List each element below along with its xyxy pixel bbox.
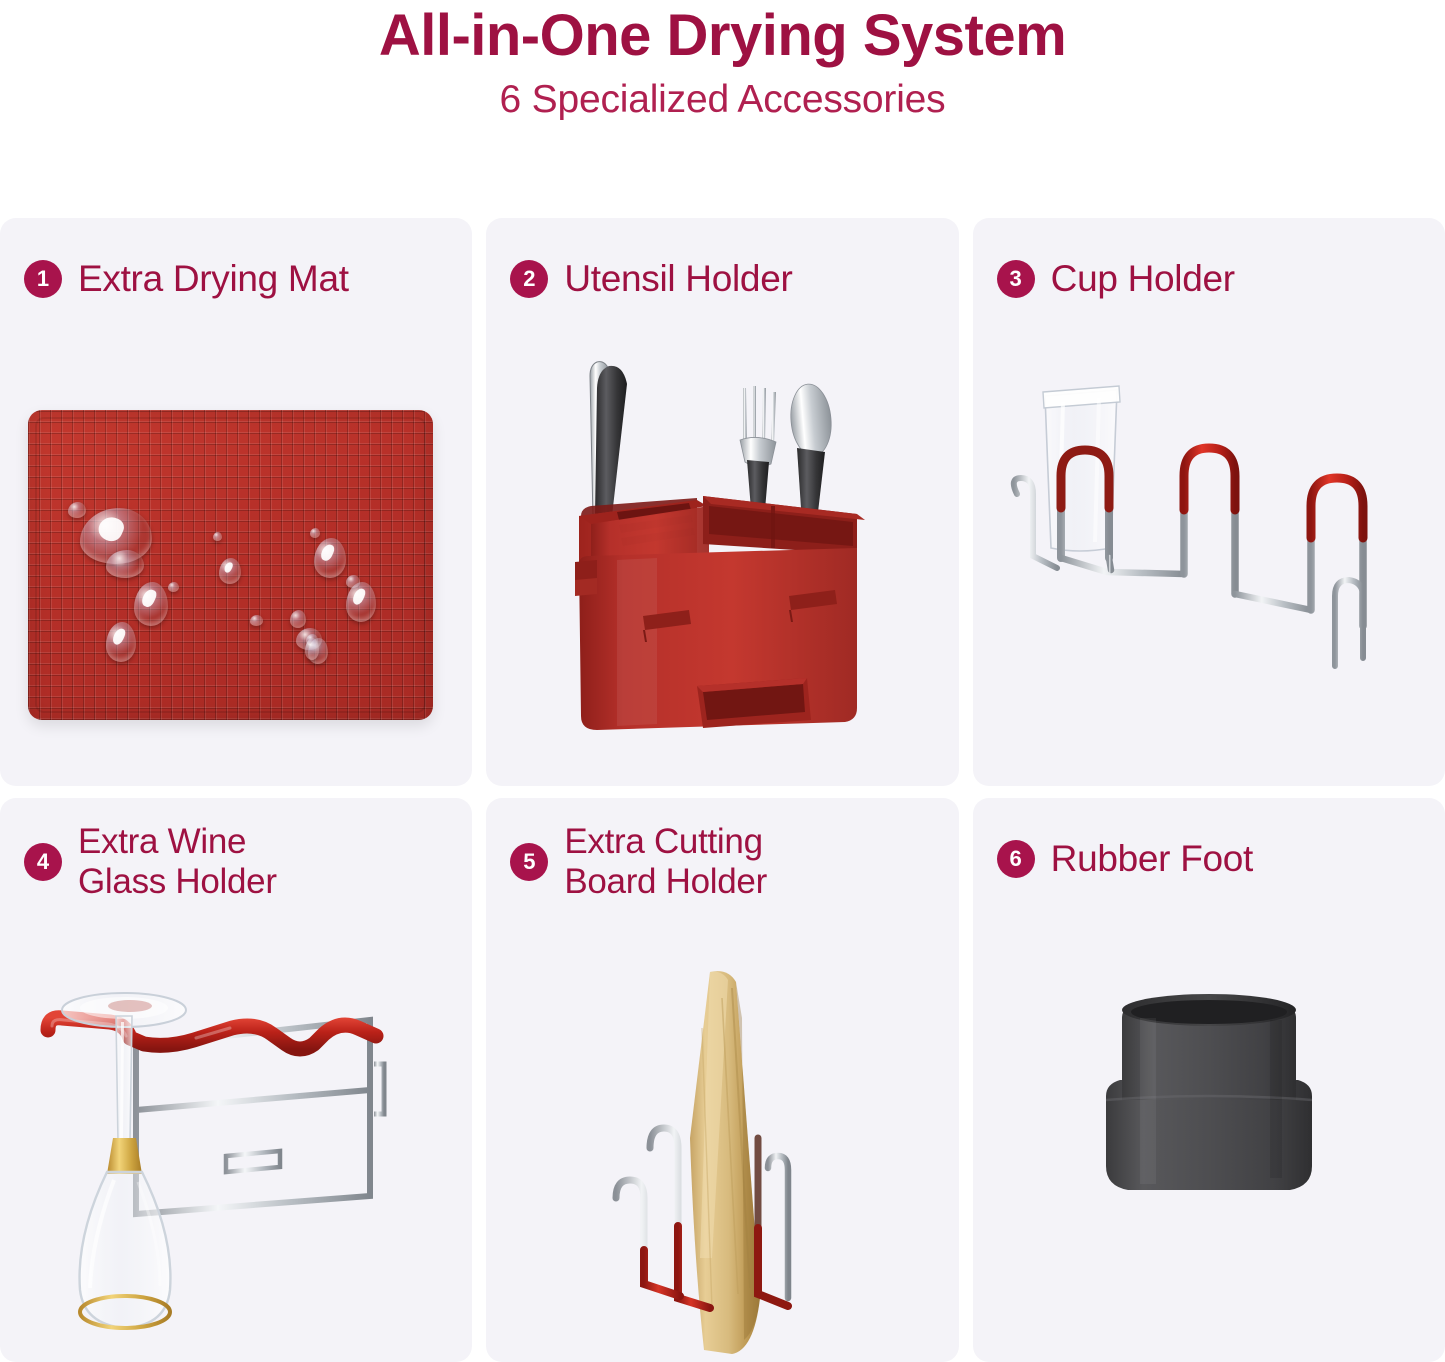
- card-image-stage: [0, 338, 472, 786]
- accessory-card-cup-holder[interactable]: 3 Cup Holder: [973, 218, 1445, 786]
- step-badge-1: 1: [24, 260, 62, 298]
- page-title: All-in-One Drying System: [0, 6, 1445, 67]
- step-badge-6: 6: [997, 840, 1035, 878]
- card-header: 3 Cup Holder: [973, 218, 1445, 301]
- cutting-board-holder-image: [572, 958, 872, 1358]
- accessory-card-utensil-holder[interactable]: 2 Utensil Holder: [486, 218, 958, 786]
- rubber-foot-image: [1094, 988, 1324, 1208]
- card-image-stage: [973, 338, 1445, 786]
- infographic-page: All-in-One Drying System 6 Specialized A…: [0, 0, 1445, 1350]
- card-image-stage: [486, 338, 958, 786]
- card-image-stage: [0, 958, 472, 1362]
- card-image-stage: [486, 958, 958, 1362]
- card-title-utensil-holder: Utensil Holder: [564, 258, 792, 301]
- step-badge-5: 5: [510, 843, 548, 881]
- drying-mat-image: [28, 410, 433, 720]
- card-header: 2 Utensil Holder: [486, 218, 958, 301]
- page-subtitle: 6 Specialized Accessories: [0, 79, 1445, 122]
- card-title-wine-glass-holder: Extra Wine Glass Holder: [78, 822, 277, 903]
- card-header: 6 Rubber Foot: [973, 798, 1445, 881]
- card-header: 5 Extra Cutting Board Holder: [486, 798, 958, 903]
- utensil-holder-image: [557, 348, 887, 748]
- card-title-cup-holder: Cup Holder: [1051, 258, 1235, 301]
- step-badge-4: 4: [24, 843, 62, 881]
- step-badge-3: 3: [997, 260, 1035, 298]
- accessory-card-cutting-board-holder[interactable]: 5 Extra Cutting Board Holder: [486, 798, 958, 1362]
- card-title-rubber-foot: Rubber Foot: [1051, 838, 1253, 881]
- accessory-card-wine-glass-holder[interactable]: 4 Extra Wine Glass Holder: [0, 798, 472, 1362]
- step-badge-2: 2: [510, 260, 548, 298]
- card-title-cutting-board-holder: Extra Cutting Board Holder: [564, 822, 767, 903]
- card-header: 4 Extra Wine Glass Holder: [0, 798, 472, 903]
- accessory-card-rubber-foot[interactable]: 6 Rubber Foot: [973, 798, 1445, 1362]
- cup-holder-image: [999, 358, 1419, 678]
- accessory-grid: 1 Extra Drying Mat: [0, 218, 1445, 1350]
- card-image-stage: [973, 918, 1445, 1362]
- wine-glass-holder-image: [18, 968, 438, 1348]
- card-title-drying-mat: Extra Drying Mat: [78, 258, 349, 301]
- header-block: All-in-One Drying System 6 Specialized A…: [0, 0, 1445, 122]
- accessory-card-drying-mat[interactable]: 1 Extra Drying Mat: [0, 218, 472, 786]
- card-header: 1 Extra Drying Mat: [0, 218, 472, 301]
